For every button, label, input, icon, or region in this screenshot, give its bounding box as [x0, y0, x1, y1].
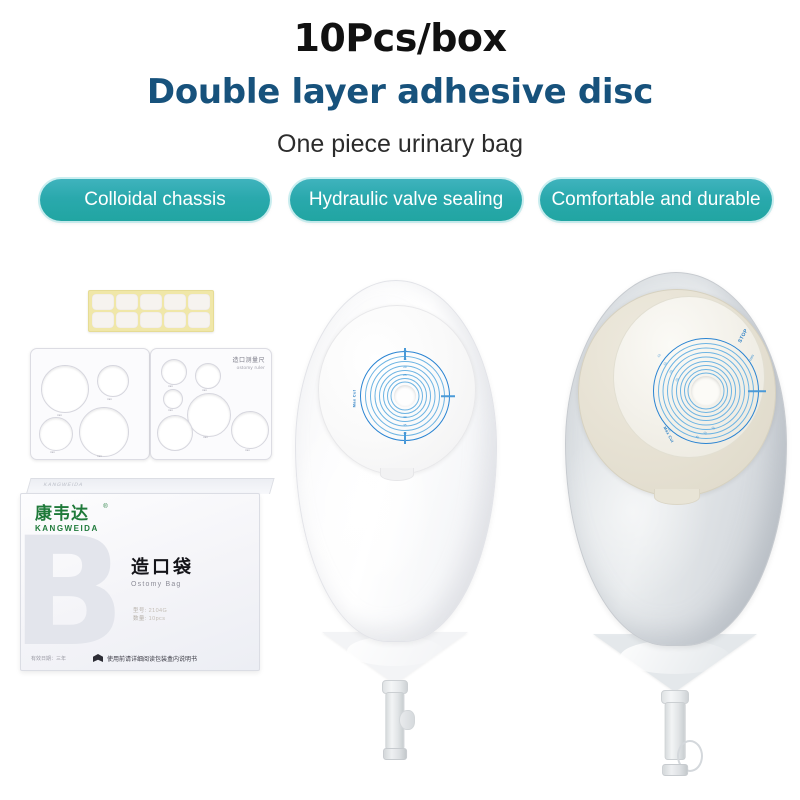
spec-quantity-key: 数量: — [133, 616, 147, 622]
adhesive-disc-outer-beige: 10 15 20 25 30 35 40 mm Max Cut STOP mm — [578, 289, 776, 497]
adhesive-sticker-sheet — [88, 290, 214, 332]
spec-model-value: 2104G — [149, 608, 168, 614]
box-product-title: 造口袋 Ostomy Bag — [131, 559, 194, 588]
drain-valve-white[interactable] — [382, 680, 408, 760]
page-subtitle: One piece urinary bag — [0, 130, 800, 159]
brand-name-cn: 康韦达 — [35, 506, 99, 523]
spec-model-key: 型号: — [133, 608, 147, 614]
bag-body-white: 10 15 20 25 30 35 40 Max Cut — [295, 280, 497, 642]
ruler-hole — [161, 359, 187, 385]
ring-size-label: 10 — [403, 349, 406, 353]
ruler-hole — [41, 365, 89, 413]
ring-size-label: 10 — [656, 353, 661, 358]
read-manual-icon — [93, 654, 103, 662]
registered-trademark-icon: ® — [103, 504, 107, 510]
adhesive-disc-inner: 10 15 20 25 30 35 40 mm Max Cut STOP mm — [613, 296, 765, 458]
flange-notch — [380, 468, 414, 481]
ruler-hole — [231, 411, 269, 449]
brand-name-en: KANGWEIDA — [35, 525, 99, 533]
ostomy-ruler-card: mm mm mm mm 造口测量尺 ostomy ruler mm mm mm … — [30, 348, 270, 458]
ruler-hole — [195, 363, 221, 389]
ruler-hole — [157, 415, 193, 451]
box-top-text: KANGWEIDA — [43, 482, 84, 488]
feature-badge-comfortable-and-durable[interactable]: Comfortable and durable — [540, 179, 772, 221]
sticker-dot — [164, 312, 186, 328]
valve-lever[interactable] — [399, 710, 415, 730]
cut-cross-mark — [441, 395, 455, 397]
ruler-hole-label: mm — [168, 384, 173, 388]
quantity-heading: 10Pcs/box — [0, 16, 800, 60]
urinary-bag-white: 10 15 20 25 30 35 40 Max Cut — [295, 280, 495, 760]
ruler-hole — [163, 389, 183, 409]
product-name-cn: 造口袋 — [131, 559, 194, 577]
ruler-hole-label: mm — [202, 388, 207, 392]
ring-size-label: 20 — [403, 365, 406, 369]
product-name-en: Ostomy Bag — [131, 581, 194, 588]
box-specs: 型号: 2104G 数量: 10pcs — [133, 607, 167, 624]
ring-size-label: 15 — [403, 357, 406, 361]
sticker-dot — [188, 294, 210, 310]
cut-guide-rings-white: 10 15 20 25 30 35 40 Max Cut — [361, 352, 449, 440]
urinary-bag-gray: 10 15 20 25 30 35 40 mm Max Cut STOP mm — [565, 272, 785, 772]
ruler-hole — [39, 417, 73, 451]
stop-label-gray: STOP — [737, 328, 749, 344]
ruler-hole-label: mm — [97, 454, 102, 458]
spec-model: 型号: 2104G — [133, 607, 167, 615]
flange-notch — [654, 489, 700, 505]
box-expiry-text: 有效日期：三年 — [31, 655, 66, 662]
ruler-label-en: ostomy ruler — [232, 365, 265, 370]
ring-size-label: 25 — [403, 373, 406, 377]
sticker-dot — [116, 294, 138, 310]
spec-quantity-value: 10pcs — [149, 616, 166, 622]
ring-size-label: 40 — [403, 431, 406, 435]
box-watermark: B — [20, 518, 125, 668]
ring-size-label: 30 — [403, 415, 406, 419]
box-footer: 有效日期：三年 使用前请详细阅读包装盒内说明书 — [21, 653, 260, 665]
ruler-hole-label: mm — [168, 408, 173, 412]
sticker-dot — [92, 312, 114, 328]
sticker-dot — [92, 294, 114, 310]
product-box: KANGWEIDA B 康韦达 KANGWEIDA ® 造口袋 Ostomy B… — [20, 478, 270, 671]
feature-badge-hydraulic-valve-sealing[interactable]: Hydraulic valve sealing — [290, 179, 522, 221]
valve-cap[interactable] — [383, 748, 407, 760]
ruler-hole — [79, 407, 129, 457]
feature-badge-colloidal-chassis[interactable]: Colloidal chassis — [40, 179, 270, 221]
sticker-dot — [140, 312, 162, 328]
ruler-hole-label: mm — [203, 435, 208, 439]
product-image-canvas: 10Pcs/box Double layer adhesive disc One… — [0, 0, 800, 800]
box-front-face: B 康韦达 KANGWEIDA ® 造口袋 Ostomy Bag 型号: 210… — [20, 493, 260, 671]
sticker-dot — [164, 294, 186, 310]
ring-size-label: 35 — [403, 423, 406, 427]
ring-unit-label-tail: mm — [748, 353, 756, 361]
sticker-dot — [188, 312, 210, 328]
max-cut-label-white: Max Cut — [351, 390, 356, 408]
ruler-hole-label: mm — [107, 397, 112, 401]
spec-quantity: 数量: 10pcs — [133, 615, 167, 623]
sticker-dot — [140, 294, 162, 310]
box-instruction-text: 使用前请详细阅读包装盒内说明书 — [107, 654, 197, 663]
box-top-face: KANGWEIDA — [26, 478, 275, 494]
cut-cross-mark — [748, 390, 766, 392]
adhesive-flange-white: 10 15 20 25 30 35 40 Max Cut — [318, 305, 476, 475]
page-title: Double layer adhesive disc — [0, 72, 800, 112]
ruler-hole — [97, 365, 129, 397]
ruler-label-cn: 造口测量尺 — [232, 358, 265, 365]
ruler-label: 造口测量尺 ostomy ruler — [232, 358, 265, 370]
ruler-hole-label: mm — [245, 448, 250, 452]
stoma-opening-gray — [691, 376, 721, 406]
drain-valve-gray[interactable] — [661, 690, 689, 776]
feature-badge-row: Colloidal chassis Hydraulic valve sealin… — [0, 177, 800, 223]
brand-logo: 康韦达 KANGWEIDA ® — [35, 506, 99, 533]
ruler-hole — [187, 393, 231, 437]
valve-cap[interactable] — [662, 764, 688, 776]
cut-guide-rings-gray: 10 15 20 25 30 35 40 mm Max Cut STOP mm — [654, 339, 758, 443]
bag-body-gray: 10 15 20 25 30 35 40 mm Max Cut STOP mm — [565, 272, 787, 646]
ruler-hole-label: mm — [50, 450, 55, 454]
ruler-panel-left: mm mm mm mm — [30, 348, 150, 460]
stoma-opening-white — [394, 385, 416, 407]
sticker-dot — [116, 312, 138, 328]
ruler-panel-right: 造口测量尺 ostomy ruler mm mm mm mm mm — [150, 348, 272, 460]
